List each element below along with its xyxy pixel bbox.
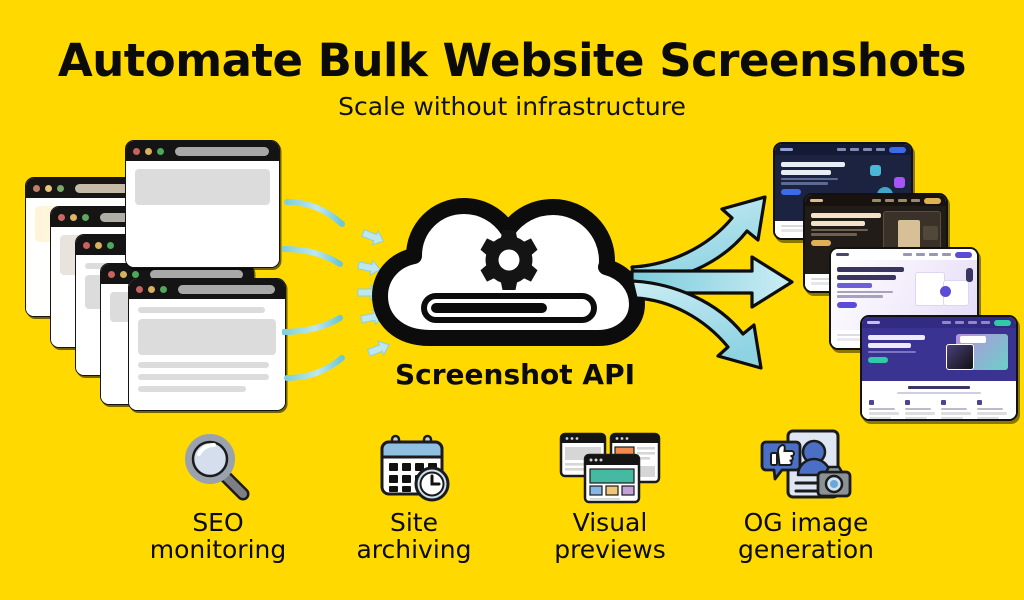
- thumb-heading: [811, 221, 865, 226]
- feature-label: Visual previews: [554, 510, 666, 563]
- minimize-dot-icon: [120, 271, 127, 278]
- minimize-dot-icon: [145, 148, 152, 155]
- thumb-logo-icon: [836, 253, 849, 257]
- thumb-heading: [837, 283, 872, 288]
- thumb-nav-links: [883, 320, 1011, 326]
- maximize-dot-icon: [160, 286, 167, 293]
- thumb-heading: [781, 162, 845, 167]
- url-bar: [175, 147, 269, 156]
- thumb-logo-icon: [867, 321, 880, 325]
- progress-bar-icon: [424, 296, 594, 320]
- screenshot-api-cloud: [372, 188, 647, 358]
- browser-titlebar: [126, 141, 279, 161]
- feature-seo-monitoring: SEO monitoring: [120, 428, 316, 563]
- thumb-hero: [862, 328, 1016, 381]
- thumb-navbar: [862, 317, 1016, 328]
- thumb-navbar: [775, 144, 911, 155]
- close-dot-icon: [136, 286, 143, 293]
- maximize-dot-icon: [157, 148, 164, 155]
- inbound-dash: [287, 202, 342, 224]
- close-dot-icon: [33, 185, 40, 192]
- source-websites-stack: [0, 120, 320, 420]
- browser-content: [129, 299, 285, 410]
- maximize-dot-icon: [57, 185, 64, 192]
- feature-label: OG image generation: [738, 510, 874, 563]
- url-bar: [178, 285, 275, 294]
- inbound-dash-group: [283, 202, 342, 378]
- thumb-nav-links: [826, 198, 941, 204]
- feature-label: SEO monitoring: [150, 510, 286, 563]
- content-block: [138, 319, 276, 355]
- browser-windows-icon: [557, 428, 663, 506]
- minimize-dot-icon: [70, 214, 77, 221]
- thumb-logo-icon: [780, 148, 793, 152]
- feature-list: SEO monitoring: [0, 428, 1024, 600]
- close-dot-icon: [58, 214, 65, 221]
- thumb-heading: [811, 213, 881, 218]
- feature-og-image-generation: OG image generation: [708, 428, 904, 563]
- inbound-dash: [287, 358, 342, 378]
- page-subtitle: Scale without infrastructure: [0, 92, 1024, 121]
- output-thumbnail: [860, 315, 1018, 421]
- page-title: Automate Bulk Website Screenshots: [0, 34, 1024, 87]
- output-screenshots-stack: [755, 130, 1020, 420]
- close-dot-icon: [83, 242, 90, 249]
- content-line: [138, 386, 246, 392]
- thumb-heading: [837, 267, 904, 272]
- thumb-heading: [781, 170, 831, 175]
- browser-window: [125, 140, 280, 268]
- content-line: [138, 307, 265, 313]
- feature-label: Site archiving: [356, 510, 471, 563]
- browser-content: [126, 161, 279, 267]
- maximize-dot-icon: [82, 214, 89, 221]
- maximize-dot-icon: [132, 271, 139, 278]
- browser-window: [128, 278, 286, 411]
- thumb-heading: [868, 335, 925, 340]
- close-dot-icon: [108, 271, 115, 278]
- calendar-clock-icon: [376, 428, 452, 506]
- thumb-heading: [837, 275, 896, 280]
- minimize-dot-icon: [95, 242, 102, 249]
- feature-site-archiving: Site archiving: [316, 428, 512, 563]
- infographic-canvas: Automate Bulk Website Screenshots Scale …: [0, 0, 1024, 600]
- browser-titlebar: [129, 279, 285, 299]
- thumb-body: [862, 381, 1016, 421]
- thumb-navbar: [831, 249, 977, 260]
- thumb-navbar: [805, 195, 946, 206]
- thumb-heading: [868, 343, 911, 348]
- cloud-label: Screenshot API: [355, 358, 675, 391]
- content-line: [138, 362, 269, 368]
- inbound-dash: [284, 318, 340, 332]
- content-block: [135, 169, 270, 205]
- maximize-dot-icon: [107, 242, 114, 249]
- close-dot-icon: [133, 148, 140, 155]
- profile-card-camera-icon: [760, 428, 852, 506]
- content-line: [138, 374, 269, 380]
- thumb-nav-links: [852, 252, 972, 258]
- feature-visual-previews: Visual previews: [512, 428, 708, 563]
- magnifier-icon: [181, 428, 255, 506]
- thumb-nav-links: [796, 147, 906, 153]
- minimize-dot-icon: [45, 185, 52, 192]
- thumb-logo-icon: [810, 199, 823, 203]
- minimize-dot-icon: [148, 286, 155, 293]
- inbound-dash: [284, 249, 340, 264]
